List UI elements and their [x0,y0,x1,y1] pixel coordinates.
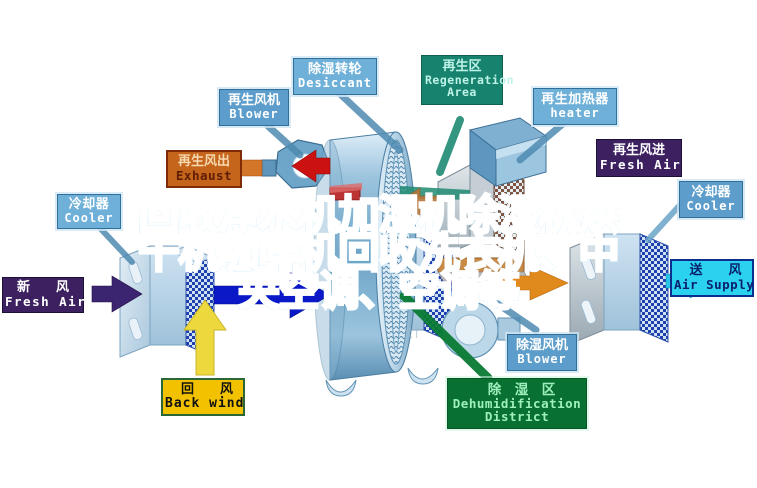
label-exhaust-en: Exhaust [170,169,238,182]
label-regen-heater-cn: 再生加热器 [537,93,613,107]
promo-line-3: 央空调、空调等 [0,272,757,310]
label-back-wind: 回 风 Back wind [161,378,245,416]
label-regen-blower-cn: 再生风机 [223,94,285,108]
label-regeneration-area-en: Regeneration Area [425,74,499,98]
label-exhaust: 再生风出 Exhaust [166,150,242,188]
label-dehum-blower-cn: 除湿风机 [510,339,574,353]
label-dehum-blower: 除湿风机 Blower [507,334,577,371]
label-desiccant-cn: 除湿转轮 [298,63,372,77]
dehumidifier-diagram: XT 回收净水机加湿机除湿机烘 干机咖啡机回收洗衣机、中 央空调、空调等 除湿转… [0,0,757,488]
label-dehumidification-district-en2: District [450,410,584,423]
label-regen-fresh-air-cn: 再生风进 [600,144,678,158]
label-regeneration-area: 再生区 Regeneration Area [421,55,503,105]
label-desiccant: 除湿转轮 Desiccant [293,58,377,95]
label-back-wind-cn: 回 风 [165,383,241,397]
label-dehumidification-district: 除 湿 区 Dehumidification District [447,378,587,429]
label-desiccant-en: Desiccant [298,77,372,90]
label-regen-fresh-air: 再生风进 Fresh Air [596,139,682,177]
label-regen-heater: 再生加热器 heater [533,88,617,125]
label-regen-blower: 再生风机 Blower [219,89,289,126]
watermark-text: XT [404,326,421,341]
label-dehum-blower-en: Blower [510,353,574,366]
promo-overlay-text: 回收净水机加湿机除湿机烘 干机咖啡机回收洗衣机、中 央空调、空调等 [0,196,757,310]
label-regen-heater-en: heater [537,107,613,120]
label-regeneration-area-cn: 再生区 [425,60,499,74]
label-regen-fresh-air-en: Fresh Air [600,158,678,171]
label-regen-blower-en: Blower [223,108,285,121]
label-dehumidification-district-cn: 除 湿 区 [450,383,584,397]
label-back-wind-en: Back wind [165,397,241,411]
label-exhaust-cn: 再生风出 [170,155,238,169]
